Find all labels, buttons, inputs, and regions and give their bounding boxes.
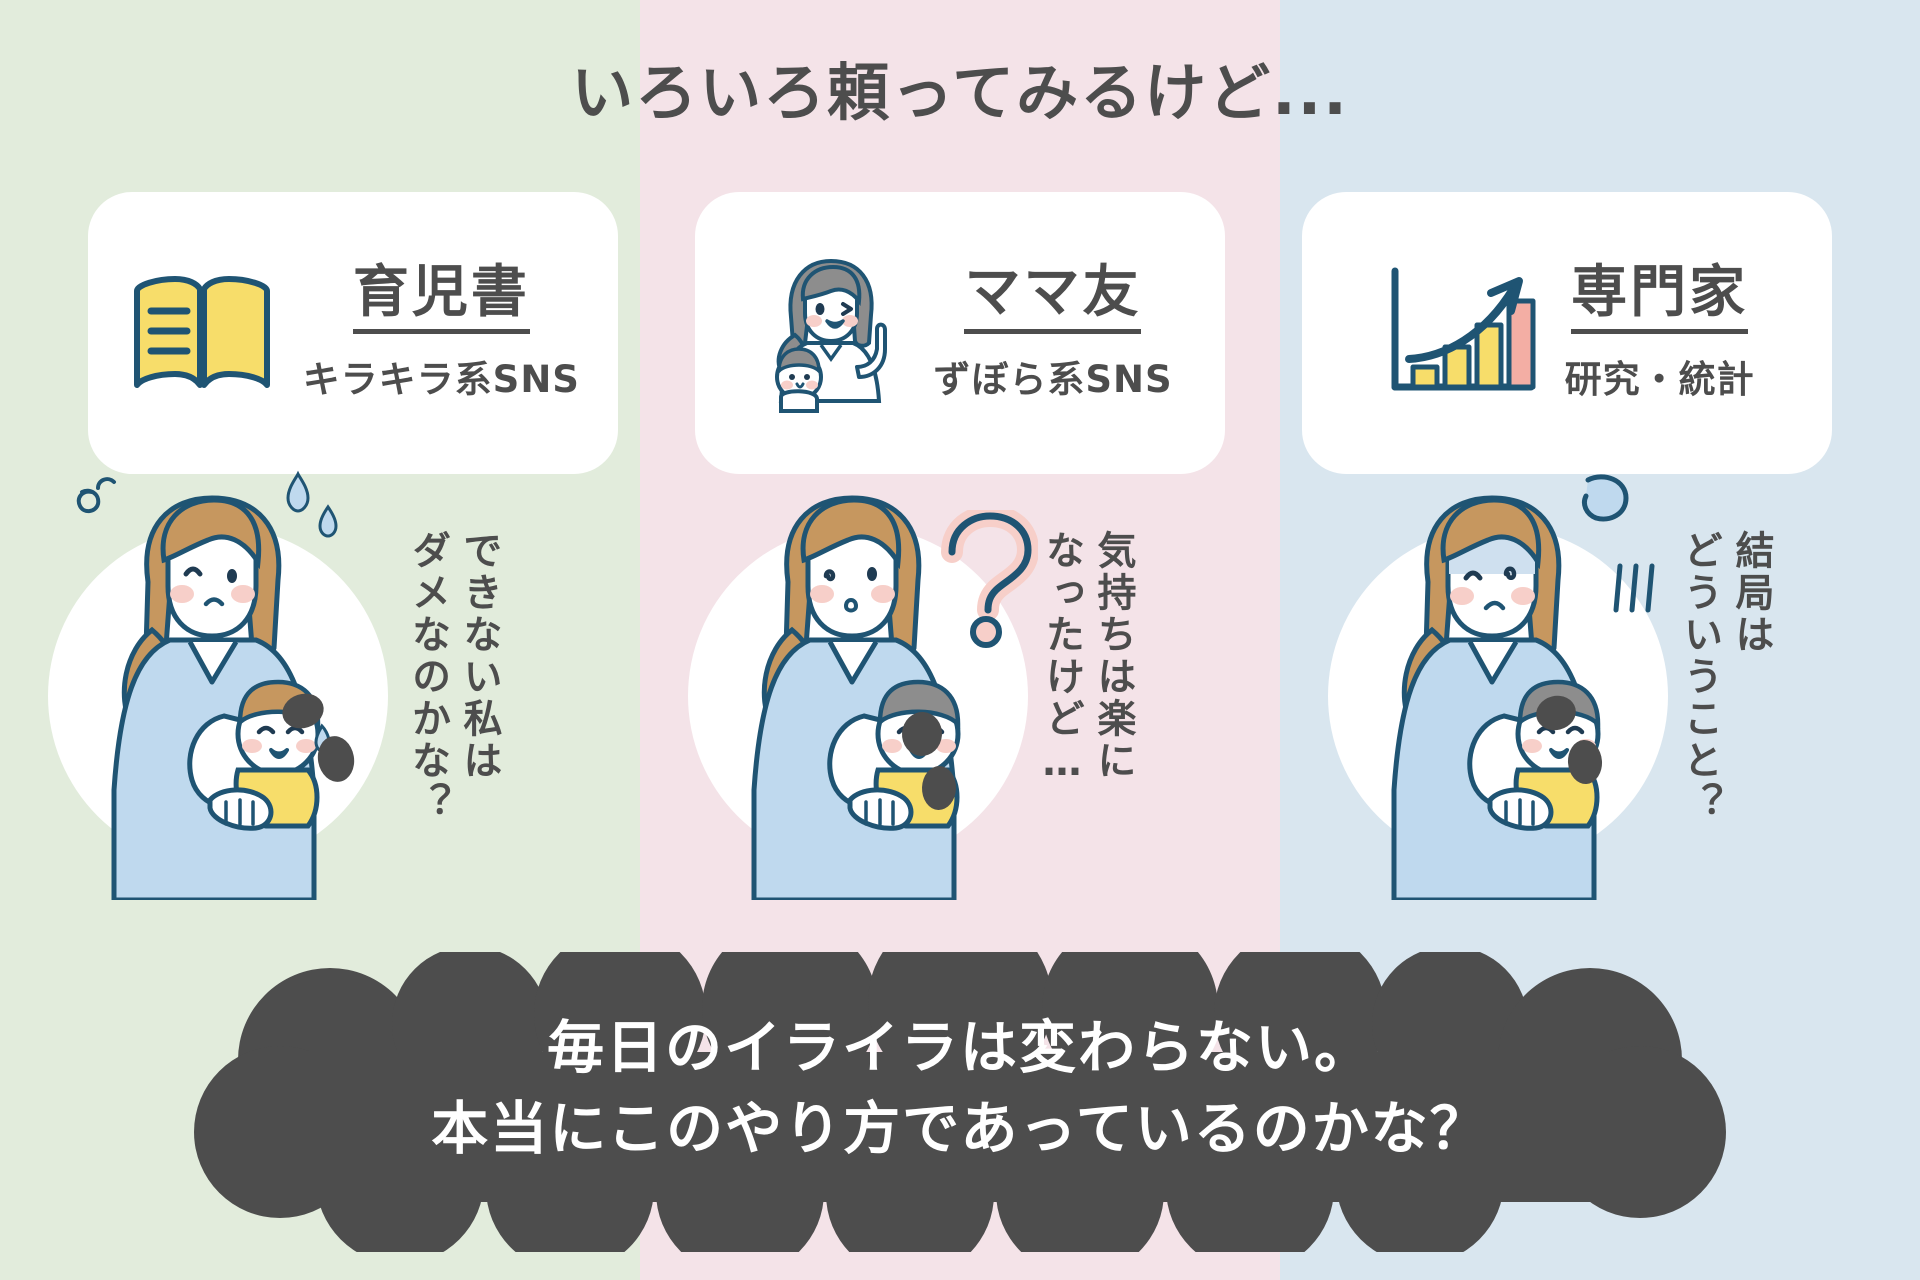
thought-line: ダメなのかな？ (402, 530, 453, 850)
card-text-block: 専門家 研究・統計 (1565, 263, 1755, 403)
persona-worried-mother-book: できない私は ダメなのかな？ (0, 490, 640, 910)
mother-baby-illustration (1320, 470, 1690, 900)
shock-lines-icon (1616, 566, 1652, 610)
thought-text-persona-2: 気持ちは楽に なったけど… (1036, 530, 1139, 850)
question-mark-icon (928, 510, 1038, 650)
persona-overwhelmed-mother-expert: 結局は どういうこと？ (1280, 490, 1920, 910)
card-title: 専門家 (1571, 263, 1748, 334)
thought-line: できない私は (453, 530, 504, 850)
source-card-row: 育児書 キラキラ系SNS (0, 192, 1920, 482)
thought-line: どういうこと？ (1674, 530, 1725, 850)
card-title: ママ友 (964, 263, 1141, 334)
card-subtitle: キラキラ系SNS (303, 349, 580, 403)
card-subtitle: 研究・統計 (1565, 349, 1755, 403)
anger-swirl-icon (79, 479, 114, 511)
card-text-block: 育児書 キラキラ系SNS (303, 263, 580, 403)
card-text-block: ママ友 ずぼら系SNS (933, 263, 1172, 403)
infographic-canvas: いろいろ頼ってみるけど... 育児書 キラキラ系SNS (0, 0, 1920, 1280)
source-card-mom-friend[interactable]: ママ友 ずぼら系SNS (695, 192, 1225, 474)
thought-text-persona-3: 結局は どういうこと？ (1674, 530, 1777, 850)
open-book-icon (127, 263, 277, 403)
conclusion-cloud: 毎日のイライラは変わらない。 本当にこのやり方であっているのかな？ (0, 952, 1920, 1252)
persona-row: できない私は ダメなのかな？ (0, 490, 1920, 910)
bar-chart-growth-icon (1379, 263, 1539, 403)
page-title: いろいろ頼ってみるけど... (0, 42, 1920, 132)
card-title: 育児書 (353, 263, 530, 334)
source-card-parenting-book[interactable]: 育児書 キラキラ系SNS (88, 192, 618, 474)
card-subtitle: ずぼら系SNS (933, 349, 1172, 403)
cloud-line-2: 本当にこのやり方であっているのかな？ (0, 1089, 1920, 1170)
mom-friend-icon (747, 251, 907, 416)
sweat-drops-icon (288, 474, 336, 536)
thought-text-persona-1: できない私は ダメなのかな？ (402, 530, 505, 850)
thought-line: 気持ちは楽に (1087, 530, 1138, 850)
cloud-text-block: 毎日のイライラは変わらない。 本当にこのやり方であっているのかな？ (0, 1008, 1920, 1170)
thought-line: なったけど… (1036, 530, 1087, 850)
thought-line: 結局は (1725, 530, 1776, 850)
persona-confused-mother-mamatomo: 気持ちは楽に なったけど… (640, 490, 1280, 910)
mother-baby-illustration (40, 470, 410, 900)
source-card-expert[interactable]: 専門家 研究・統計 (1302, 192, 1832, 474)
cloud-line-1: 毎日のイライラは変わらない。 (0, 1008, 1920, 1089)
